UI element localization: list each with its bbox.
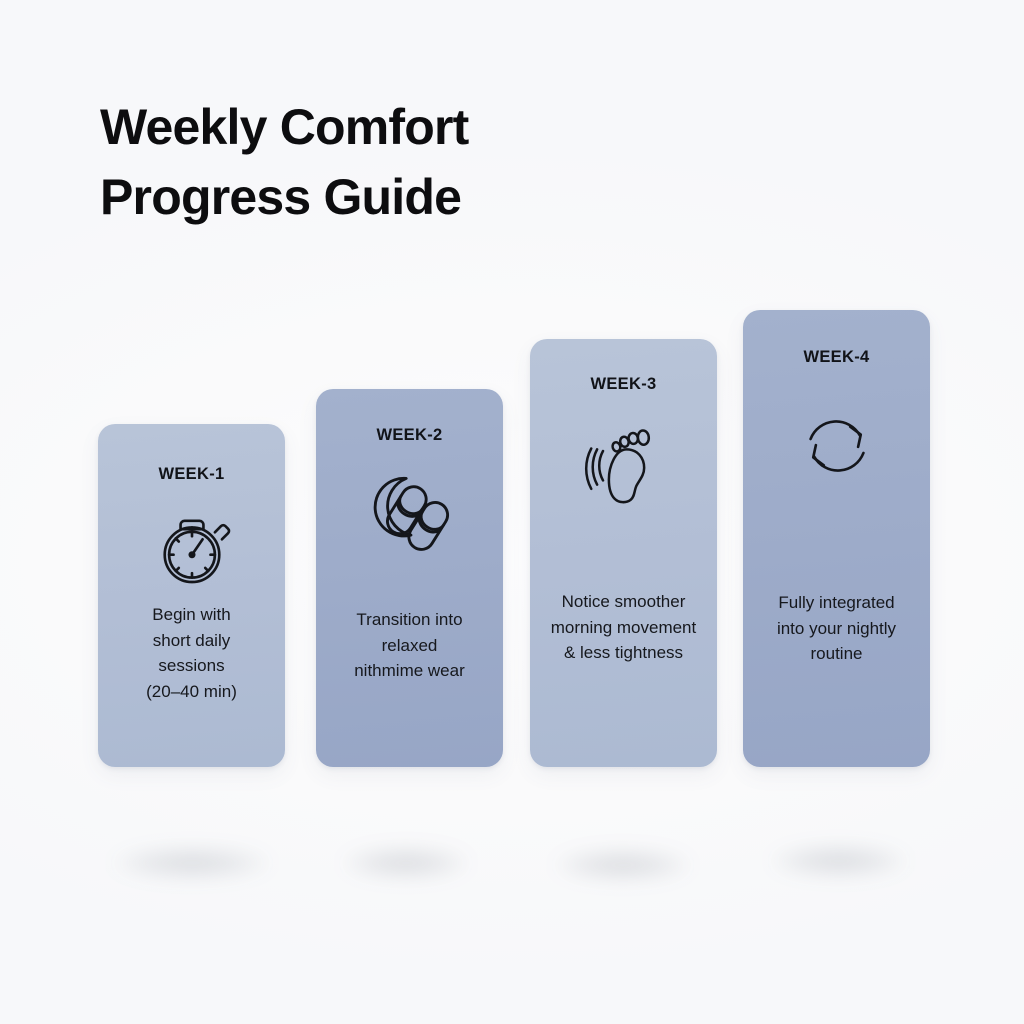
week-card-3-body-line-1: Notice smoother <box>536 589 711 615</box>
week-card-3-body: Notice smoother morning movement & less … <box>536 589 711 666</box>
slippers-moon-icon <box>316 465 503 561</box>
week-card-1-body: Begin with short daily sessions (20–40 m… <box>104 602 279 704</box>
week-card-2-label: WEEK-2 <box>316 426 503 445</box>
week-card-1[interactable]: WEEK-1 <box>98 424 285 767</box>
card-3-ground-shadow <box>552 848 694 882</box>
week-card-1-body-line-2: short daily <box>104 628 279 654</box>
footprint-motion-icon <box>530 417 717 517</box>
stopwatch-icon <box>98 505 285 593</box>
week-card-4-label: WEEK-4 <box>743 348 930 367</box>
week-card-4-body: Fully integrated into your nightly routi… <box>749 590 924 667</box>
week-card-2-body: Transition into relaxed nithmime wear <box>322 607 497 684</box>
week-card-1-label: WEEK-1 <box>98 465 285 484</box>
card-1-ground-shadow <box>110 846 274 880</box>
week-card-1-body-line-4: (20–40 min) <box>104 679 279 705</box>
week-card-4-body-line-1: Fully integrated <box>749 590 924 616</box>
week-card-3-body-line-3: & less tightness <box>536 640 711 666</box>
week-card-4-body-line-3: routine <box>749 641 924 667</box>
card-4-ground-shadow <box>768 844 910 878</box>
week-card-1-body-line-1: Begin with <box>104 602 279 628</box>
week-card-2-body-line-3: nithmime wear <box>322 658 497 684</box>
week-card-3[interactable]: WEEK-3 Notice smoother m <box>530 339 717 767</box>
week-card-2-body-line-2: relaxed <box>322 633 497 659</box>
week-card-1-body-line-3: sessions <box>104 653 279 679</box>
infographic-canvas: Weekly Comfort Progress Guide WEEK-1 <box>0 0 1024 1024</box>
week-card-4-body-line-2: into your nightly <box>749 616 924 642</box>
week-card-2[interactable]: WEEK-2 <box>316 389 503 767</box>
week-card-3-body-line-2: morning movement <box>536 615 711 641</box>
cycle-arrows-icon <box>743 402 930 490</box>
week-card-3-label: WEEK-3 <box>530 375 717 394</box>
week-card-4[interactable]: WEEK-4 Fully integrated into your nightl… <box>743 310 930 767</box>
card-2-ground-shadow <box>340 846 472 880</box>
week-card-2-body-line-1: Transition into <box>322 607 497 633</box>
